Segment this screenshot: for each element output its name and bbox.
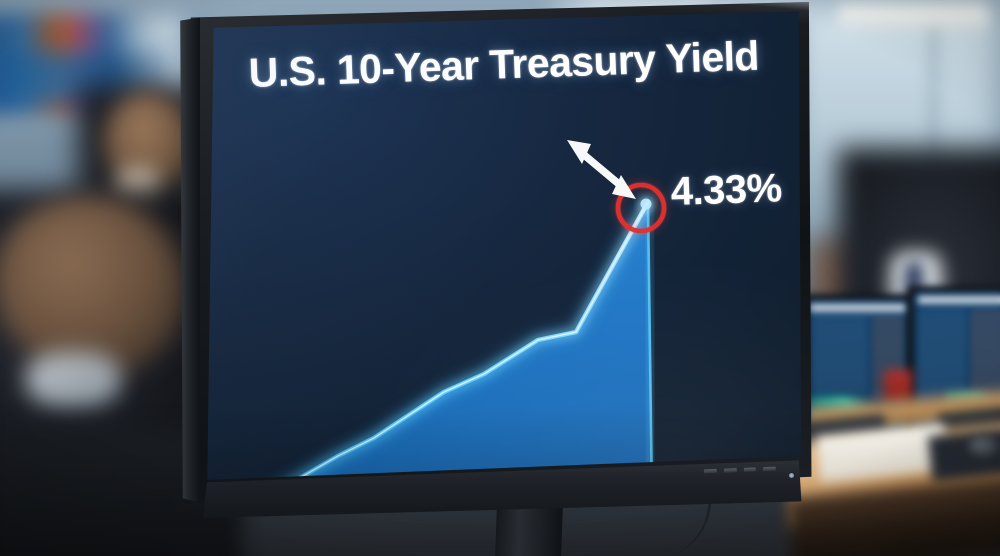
double-headed-arrow xyxy=(567,140,636,199)
background-trader-right-head xyxy=(874,152,970,262)
monitor-button[interactable] xyxy=(743,468,756,472)
monitor-stand-neck xyxy=(495,502,563,556)
latest-data-point-marker[interactable] xyxy=(641,199,652,210)
power-led-icon xyxy=(789,473,794,478)
monitor-screen[interactable]: U.S. 10-Year Treasury Yield 4.33% xyxy=(178,2,814,518)
ceiling-light-strip xyxy=(838,6,988,32)
monitor-button[interactable] xyxy=(723,469,736,473)
screen-content: U.S. 10-Year Treasury Yield 4.33% xyxy=(178,2,814,518)
monitor-left-edge xyxy=(178,2,200,518)
terminal-header-bar xyxy=(810,304,906,312)
monitor-button[interactable] xyxy=(704,469,717,473)
monitor-button[interactable] xyxy=(763,467,776,471)
terminal-data-rows xyxy=(812,318,868,390)
computer-mouse xyxy=(968,436,998,456)
terminal-header-bar xyxy=(918,296,1000,304)
terminal-data-rows xyxy=(970,312,1000,404)
current-yield-value: 4.33% xyxy=(670,166,782,215)
foreground-trader-left-collar xyxy=(26,352,121,406)
foreground-trader-left-head xyxy=(0,196,184,376)
terminal-data-rows xyxy=(918,312,966,398)
desktop-monitor: U.S. 10-Year Treasury Yield 4.33% xyxy=(178,2,814,518)
screenshot-scene: U.S. 10-Year Treasury Yield 4.33% xyxy=(0,0,1000,556)
